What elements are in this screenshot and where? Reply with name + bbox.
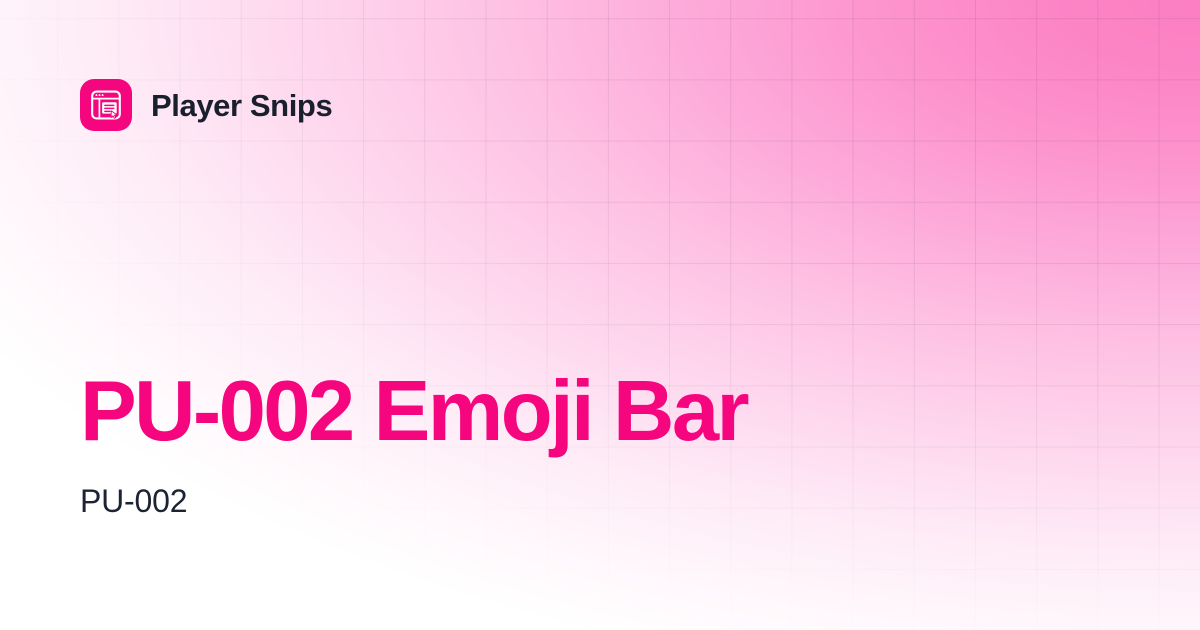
hero-text-block: PU-002 Emoji Bar PU-002 [80, 368, 1120, 521]
brand-name: Player Snips [151, 90, 332, 121]
brand-lockup: Player Snips [80, 79, 332, 131]
brand-logo-badge [80, 79, 132, 131]
og-card: Player Snips PU-002 Emoji Bar PU-002 [0, 0, 1200, 630]
page-title: PU-002 Emoji Bar [80, 368, 1120, 456]
page-subtitle: PU-002 [80, 456, 1120, 520]
browser-window-snip-icon [88, 87, 124, 123]
